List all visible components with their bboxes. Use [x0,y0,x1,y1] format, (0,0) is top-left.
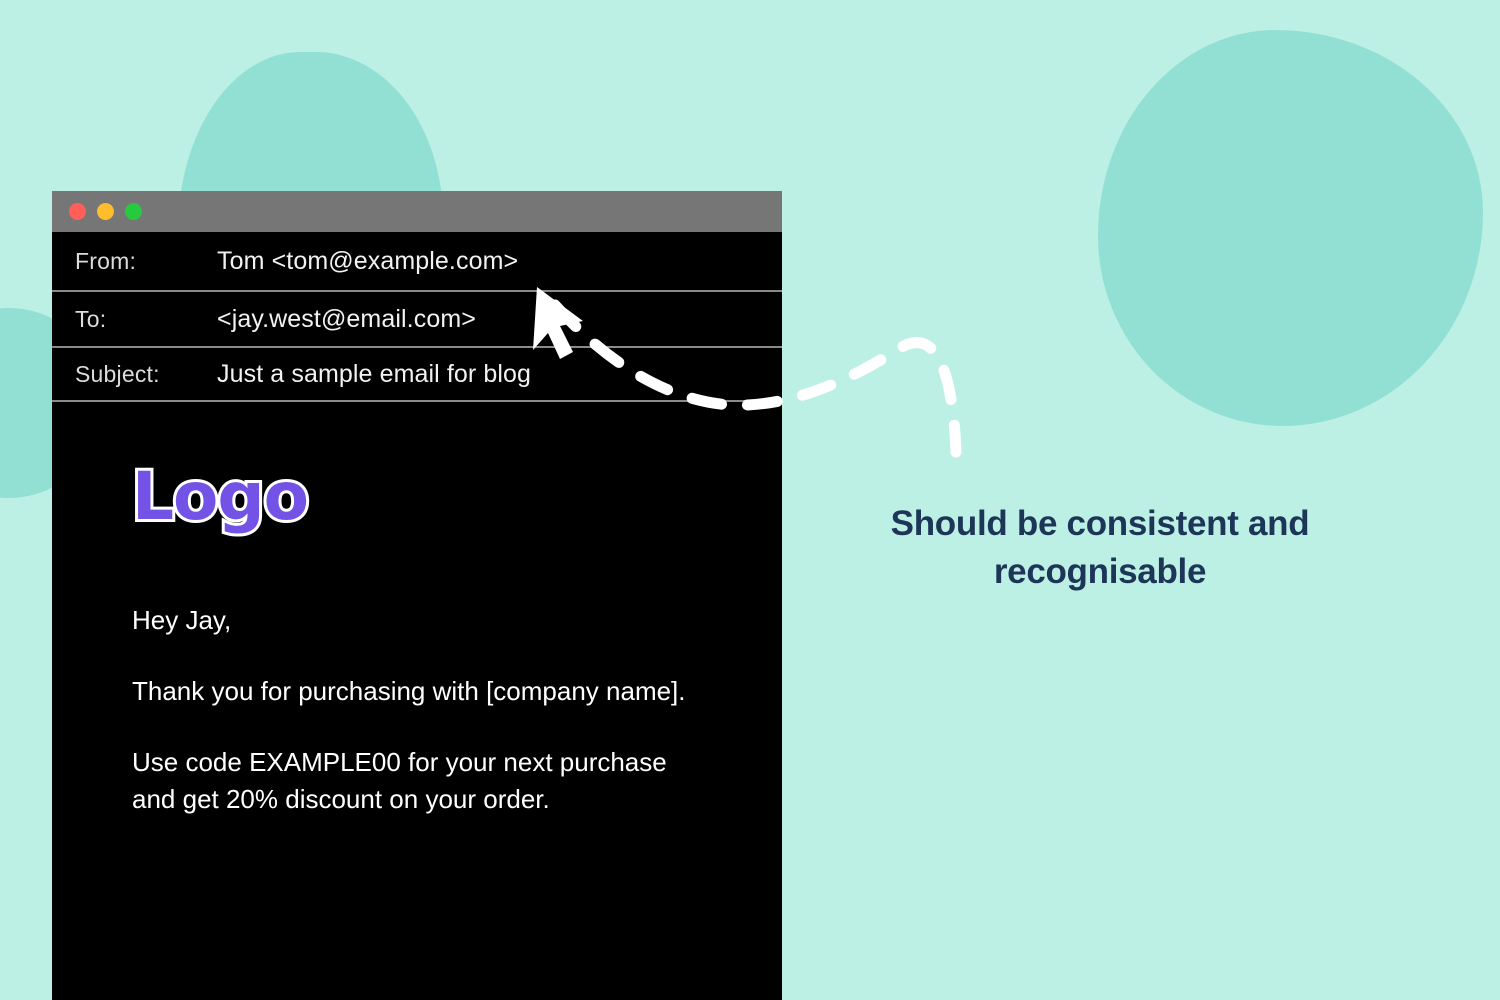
field-row-to[interactable]: To: <jay.west@email.com> [52,292,782,348]
to-label: To: [52,306,217,333]
email-window: From: Tom <tom@example.com> To: <jay.wes… [52,191,782,1000]
window-titlebar [52,191,782,232]
minimize-button[interactable] [97,203,114,220]
subject-value[interactable]: Just a sample email for blog [217,360,531,389]
maximize-button[interactable] [125,203,142,220]
from-value[interactable]: Tom <tom@example.com> [217,247,518,276]
annotation-caption: Should be consistent and recognisable [820,500,1380,597]
brand-logo: Logo [132,464,308,530]
body-paragraph-promo: Use code EXAMPLE00 for your next purchas… [132,744,692,818]
email-body-copy: Hey Jay, Thank you for purchasing with [… [132,602,692,818]
background-blob-right [1098,30,1483,426]
canvas: From: Tom <tom@example.com> To: <jay.wes… [0,0,1500,1000]
field-row-subject[interactable]: Subject: Just a sample email for blog [52,348,782,402]
subject-label: Subject: [52,361,217,388]
body-paragraph-thanks: Thank you for purchasing with [company n… [132,673,692,710]
close-button[interactable] [69,203,86,220]
body-paragraph-greeting: Hey Jay, [132,602,692,639]
to-value[interactable]: <jay.west@email.com> [217,305,476,334]
field-row-from[interactable]: From: Tom <tom@example.com> [52,232,782,292]
logo-wordmark: Logo [132,464,308,530]
from-label: From: [52,248,217,275]
